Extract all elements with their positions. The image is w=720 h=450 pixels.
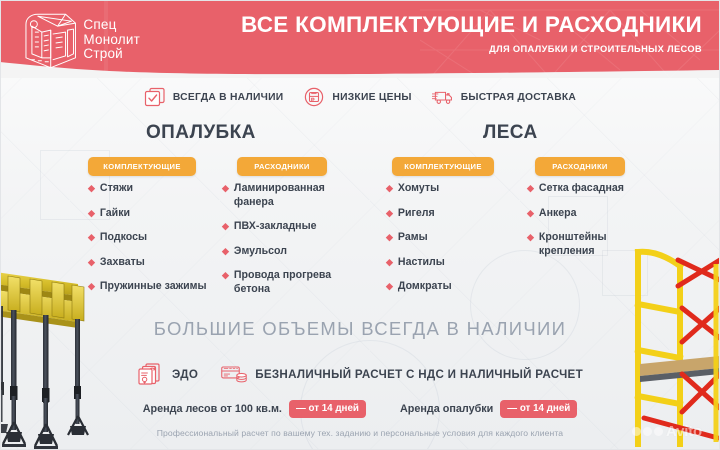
payment-options-row: ЭДО БЕЗНАЛИЧНЫЙ РАСЧЕТ С НДС И НАЛИЧНЫЙ …	[0, 358, 720, 390]
bullet-icon: ◆	[527, 231, 534, 244]
payment-bank-and-cash: БЕЗНАЛИЧНЫЙ РАСЧЕТ С НДС И НАЛИЧНЫЙ РАСЧ…	[220, 362, 583, 386]
badge-label: БЫСТРАЯ ДОСТАВКА	[461, 92, 576, 103]
badge-fast-delivery: БЫСТРАЯ ДОСТАВКА	[432, 87, 576, 107]
header-text-block: ВСЕ КОМПЛЕКТУЮЩИЕ И РАСХОДНИКИ ДЛЯ ОПАЛУ…	[241, 14, 702, 54]
bullet-icon: ◆	[88, 280, 95, 293]
list-item: ◆Эмульсол	[222, 245, 372, 259]
list-item-label: ПВХ-закладные	[234, 220, 317, 234]
feature-badges-row: ВСЕГДА В НАЛИЧИИ НИЗКИЕ ЦЕНЫ БЫСТРАЯ ДО	[0, 79, 720, 115]
rent-term-badge: — от 14 дней	[500, 400, 577, 418]
bullet-icon: ◆	[386, 280, 393, 293]
bullet-icon: ◆	[386, 207, 393, 220]
list-item-label: Ригеля	[398, 207, 435, 221]
list-item: ◆Домкраты	[386, 280, 516, 294]
poster-header: Спец Монолит Строй ВСЕ КОМПЛЕКТУЮЩИЕ И Р…	[0, 0, 720, 78]
checkbox-stack-icon	[144, 87, 166, 107]
payment-label: ЭДО	[172, 368, 198, 381]
building-crane-logo-icon	[22, 10, 79, 70]
list-item: ◆Настилы	[386, 256, 516, 270]
pill-scaffold-parts: КОМПЛЕКТУЮЩИЕ	[392, 157, 494, 176]
badge-always-in-stock: ВСЕГДА В НАЛИЧИИ	[144, 87, 284, 107]
badge-low-prices: НИЗКИЕ ЦЕНЫ	[303, 87, 411, 107]
list-item-label: Сетка фасадная	[539, 182, 624, 196]
list-item: ◆Сетка фасадная	[527, 182, 677, 196]
badge-label: ВСЕГДА В НАЛИЧИИ	[173, 92, 284, 103]
pill-formwork-parts: КОМПЛЕКТУЮЩИЕ	[88, 157, 196, 176]
list-item-label: Хомуты	[398, 182, 439, 196]
list-item: ◆Захваты	[88, 256, 218, 270]
avito-watermark-text: Avito	[666, 423, 702, 440]
brand-name-line3: Строй	[83, 47, 140, 62]
list-item-label: Кронштейны крепления	[539, 231, 607, 258]
list-item: ◆Стяжи	[88, 182, 218, 196]
bullet-icon: ◆	[386, 182, 393, 195]
edo-document-icon	[137, 362, 165, 386]
section-title-scaffolding: ЛЕСА	[483, 122, 538, 144]
bullet-icon: ◆	[222, 220, 229, 233]
page-subtitle: ДЛЯ ОПАЛУБКИ И СТРОИТЕЛЬНЫХ ЛЕСОВ	[241, 44, 702, 54]
avito-dots-icon	[632, 427, 663, 436]
brand-name-line2: Монолит	[83, 33, 140, 48]
list-item-label: Ламинированная фанера	[234, 182, 325, 209]
bullet-icon: ◆	[222, 269, 229, 282]
list-item-label: Гайки	[100, 207, 130, 221]
rent-formwork: Аренда опалубки — от 14 дней	[400, 400, 577, 418]
list-item: ◆Кронштейны крепления	[527, 231, 677, 258]
pill-formwork-consumables: РАСХОДНИКИ	[237, 157, 327, 176]
list-item: ◆Рамы	[386, 231, 516, 245]
list-item-label: Эмульсол	[234, 245, 287, 259]
rent-terms-row: Аренда лесов от 100 кв.м. — от 14 дней А…	[0, 398, 720, 420]
rent-label: Аренда лесов от 100 кв.м.	[143, 403, 282, 415]
list-item-label: Настилы	[398, 256, 445, 270]
delivery-truck-icon	[432, 87, 454, 107]
card-coins-icon	[220, 362, 248, 386]
bullet-icon: ◆	[88, 182, 95, 195]
bullet-icon: ◆	[88, 231, 95, 244]
list-item: ◆Пружинные зажимы	[88, 280, 218, 294]
list-item-label: Подкосы	[100, 231, 147, 245]
rent-label: Аренда опалубки	[400, 403, 493, 415]
bullet-icon: ◆	[527, 182, 534, 195]
list-formwork-parts: ◆Стяжи ◆Гайки ◆Подкосы ◆Захваты ◆Пружинн…	[88, 182, 218, 305]
list-item-label: Провода прогрева бетона	[234, 269, 331, 296]
section-title-formwork: ОПАЛУБКА	[146, 122, 256, 144]
list-item-label: Стяжи	[100, 182, 133, 196]
ruble-price-circle-icon	[303, 87, 325, 107]
list-item: ◆Гайки	[88, 207, 218, 221]
bullet-icon: ◆	[386, 231, 393, 244]
list-item: ◆Анкера	[527, 207, 677, 221]
page-title: ВСЕ КОМПЛЕКТУЮЩИЕ И РАСХОДНИКИ	[241, 14, 702, 37]
payment-edo: ЭДО	[137, 362, 198, 386]
brand-logo: Спец Монолит Строй	[22, 9, 140, 71]
rent-term-badge: — от 14 дней	[289, 400, 366, 418]
bullet-icon: ◆	[527, 207, 534, 220]
bullet-icon: ◆	[88, 256, 95, 269]
list-scaffold-parts: ◆Хомуты ◆Ригеля ◆Рамы ◆Настилы ◆Домкраты	[386, 182, 516, 305]
large-volumes-headline: БОЛЬШИЕ ОБЪЕМЫ ВСЕГДА В НАЛИЧИИ	[0, 318, 720, 340]
bullet-icon: ◆	[222, 245, 229, 258]
footer-note: Профессиональный расчет по вашему тех. з…	[0, 428, 720, 438]
rent-scaffolding: Аренда лесов от 100 кв.м. — от 14 дней	[143, 400, 366, 418]
list-item-label: Домкраты	[398, 280, 452, 294]
list-item: ◆Хомуты	[386, 182, 516, 196]
list-item: ◆Провода прогрева бетона	[222, 269, 372, 296]
list-item: ◆Ригеля	[386, 207, 516, 221]
pill-scaffold-consumables: РАСХОДНИКИ	[535, 157, 625, 176]
brand-name-line1: Спец	[83, 18, 140, 33]
bullet-icon: ◆	[88, 207, 95, 220]
list-item-label: Анкера	[539, 207, 577, 221]
list-item: ◆Ламинированная фанера	[222, 182, 372, 209]
list-scaffold-consumables: ◆Сетка фасадная ◆Анкера ◆Кронштейны креп…	[527, 182, 677, 269]
promo-poster: Спец Монолит Строй ВСЕ КОМПЛЕКТУЮЩИЕ И Р…	[0, 0, 720, 450]
avito-watermark: Avito	[632, 423, 702, 440]
bullet-icon: ◆	[386, 256, 393, 269]
brand-name: Спец Монолит Строй	[83, 18, 140, 62]
list-item-label: Захваты	[100, 256, 145, 270]
list-item-label: Пружинные зажимы	[100, 280, 207, 294]
bullet-icon: ◆	[222, 182, 229, 195]
list-item: ◆Подкосы	[88, 231, 218, 245]
badge-label: НИЗКИЕ ЦЕНЫ	[332, 92, 411, 103]
list-item: ◆ПВХ-закладные	[222, 220, 372, 234]
payment-label: БЕЗНАЛИЧНЫЙ РАСЧЕТ С НДС И НАЛИЧНЫЙ РАСЧ…	[255, 368, 583, 381]
list-item-label: Рамы	[398, 231, 428, 245]
list-formwork-consumables: ◆Ламинированная фанера ◆ПВХ-закладные ◆Э…	[222, 182, 372, 307]
